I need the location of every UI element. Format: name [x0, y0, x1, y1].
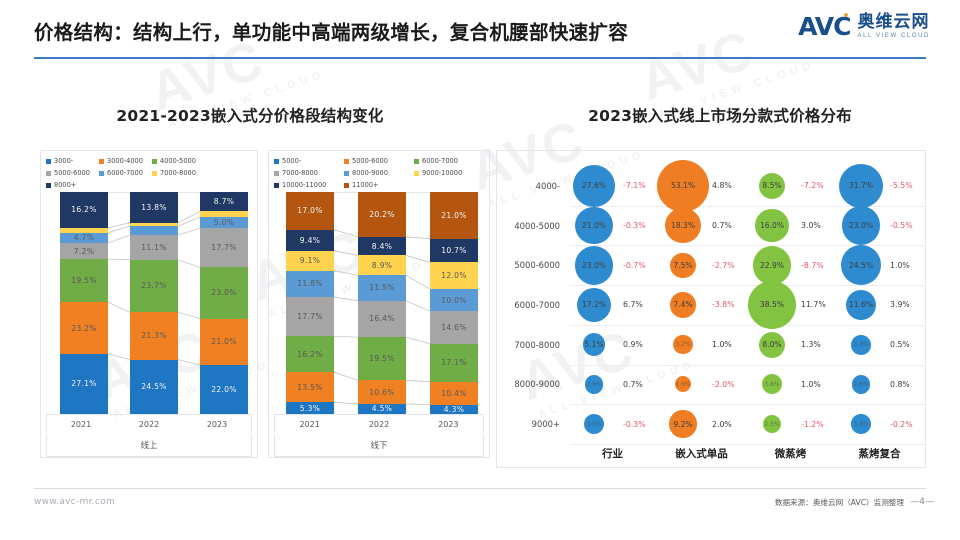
- stacked-bar-segment[interactable]: 27.1%: [60, 354, 108, 414]
- segment-value-label: 17.7%: [211, 243, 237, 252]
- bubble-chart-plot: 4000-27.6%-7.1%53.1%4.8%8.5%-7.2%31.7%-5…: [496, 166, 926, 444]
- segment-value-label: 27.1%: [71, 379, 97, 388]
- bubble-value-label: 11.6%: [849, 300, 873, 309]
- stacked-bar[interactable]: 8.7%5.0%17.7%23.0%21.0%22.0%: [200, 192, 248, 414]
- grid-line: [570, 444, 926, 445]
- bubble-delta-label: 1.0%: [712, 340, 732, 349]
- bubble-marker[interactable]: 3.3%: [851, 335, 871, 355]
- bubble-delta-label: -0.3%: [623, 420, 646, 429]
- bubble-marker[interactable]: 27.6%: [573, 165, 615, 207]
- bubble-cell: 16.0%3.0%: [746, 209, 835, 243]
- page-number: —4—: [910, 497, 934, 507]
- stacked-bar-segment[interactable]: 17.0%: [286, 192, 334, 230]
- bubble-delta-label: 1.3%: [801, 340, 821, 349]
- bubble-row: 7000-80005.1%0.9%3.2%1.0%8.0%1.3%3.3%0.5…: [496, 325, 926, 365]
- bubble-marker[interactable]: 3.6%: [762, 374, 782, 394]
- bubble-wrap: 3.3%: [835, 414, 887, 434]
- bubble-cell: 5.1%0.9%: [568, 333, 657, 355]
- bubble-value-label: 5.1%: [584, 340, 603, 349]
- bubble-value-label: 8.5%: [762, 181, 781, 190]
- bubble-value-label: 2.6%: [853, 381, 868, 388]
- bubble-wrap: 16.0%: [746, 209, 798, 243]
- legend-label: 3000-4000: [107, 157, 143, 165]
- segment-value-label: 22.0%: [211, 385, 237, 394]
- stacked-bar-segment[interactable]: 10.4%: [430, 382, 478, 405]
- bubble-wrap: 21.0%: [568, 207, 620, 244]
- x-axis-tick: 2023: [183, 415, 251, 433]
- segment-value-label: 12.0%: [441, 271, 467, 280]
- bubble-wrap: 8.5%: [746, 173, 798, 200]
- bubble-delta-label: 6.7%: [623, 300, 643, 309]
- bubble-row-label: 8000-9000: [496, 379, 568, 389]
- segment-value-label: 21.0%: [211, 337, 237, 346]
- bubble-column-label: 微蒸烤: [746, 446, 835, 461]
- stacked-bar-segment[interactable]: 7.2%: [60, 243, 108, 259]
- legend-label: 11000+: [352, 181, 379, 189]
- stacked-bar-segment[interactable]: 10.0%: [430, 289, 478, 311]
- bubble-wrap: 7.4%: [657, 292, 709, 317]
- bubble-marker[interactable]: 5.1%: [583, 333, 605, 355]
- x-axis-tick: 2021: [275, 415, 344, 433]
- stacked-bar-segment[interactable]: 24.5%: [130, 360, 178, 414]
- stacked-bar-segment[interactable]: 11.5%: [358, 275, 406, 301]
- segment-value-label: 23.0%: [211, 288, 237, 297]
- bubble-cell: 7.5%-2.7%: [657, 253, 746, 279]
- bubble-delta-label: -8.7%: [801, 261, 824, 270]
- bubble-marker[interactable]: 18.3%: [665, 208, 700, 243]
- bubble-value-label: 3.5%: [586, 421, 601, 428]
- legend-item[interactable]: 6000-7000: [414, 157, 484, 165]
- legend-swatch-icon: [414, 171, 419, 176]
- stacked-bar-segment[interactable]: 9.1%: [286, 251, 334, 271]
- legend-item[interactable]: 4000-5000: [152, 157, 205, 165]
- stacked-bar-segment[interactable]: 9.4%: [286, 230, 334, 251]
- legend-label: 8000-9000: [352, 169, 388, 177]
- segment-value-label: 19.5%: [369, 354, 395, 363]
- segment-value-label: 17.0%: [297, 206, 323, 215]
- stacked-bar-segment[interactable]: 8.4%: [358, 237, 406, 256]
- stacked-bar-segment[interactable]: 21.0%: [430, 192, 478, 239]
- legend-item[interactable]: 7000-8000: [152, 169, 205, 177]
- legend-label: 9000-10000: [422, 169, 462, 177]
- legend-item[interactable]: 6000-7000: [99, 169, 152, 177]
- bubble-delta-label: 0.8%: [890, 380, 910, 389]
- segment-value-label: 16.2%: [71, 205, 97, 214]
- stacked-bar-segment[interactable]: 19.5%: [358, 337, 406, 380]
- legend-item[interactable]: 8000+: [46, 181, 99, 189]
- bubble-wrap: 27.6%: [568, 165, 620, 207]
- bubble-cell: 3.2%1.0%: [657, 335, 746, 354]
- bubble-column-label: 行业: [568, 446, 657, 461]
- stacked-bar-segment[interactable]: 14.6%: [430, 311, 478, 343]
- bubble-delta-label: 2.0%: [712, 420, 732, 429]
- bubble-marker[interactable]: 2.5%: [763, 415, 781, 433]
- bubble-value-label: 3.3%: [853, 421, 868, 428]
- bubble-wrap: 31.7%: [835, 164, 887, 208]
- slide-root: AVCALL VIEW CLOUD AVCALL VIEW CLOUD AVCA…: [0, 0, 960, 540]
- segment-value-label: 11.5%: [369, 283, 395, 292]
- bubble-cell: 23.0%-0.7%: [568, 246, 657, 285]
- bubble-row: 9000+3.5%-0.3%9.2%2.0%2.5%-1.2%3.3%-0.2%: [496, 404, 926, 444]
- bubble-marker[interactable]: 17.2%: [577, 288, 612, 323]
- bubble-cell: 7.4%-3.8%: [657, 292, 746, 317]
- bubble-delta-label: -1.2%: [801, 420, 824, 429]
- bubble-wrap: 1.6%: [657, 376, 709, 392]
- bubble-marker[interactable]: 23.0%: [575, 246, 614, 285]
- bubble-delta-label: -3.8%: [712, 300, 735, 309]
- legend-label: 6000-7000: [107, 169, 143, 177]
- footer-url[interactable]: www.avc-mr.com: [34, 497, 115, 507]
- bubble-delta-label: 3.9%: [890, 300, 910, 309]
- bubble-value-label: 21.0%: [582, 221, 606, 230]
- segment-value-label: 4.5%: [372, 404, 393, 413]
- stacked-bar-segment[interactable]: 17.1%: [430, 344, 478, 382]
- bubble-cell: 2.6%0.8%: [835, 375, 924, 393]
- right-chart-title: 2023嵌入式线上市场分款式价格分布: [490, 104, 950, 126]
- avc-logo: AVC 奥维云网 ALL VIEW CLOUD: [798, 12, 930, 41]
- stacked-bar-segment[interactable]: 17.7%: [286, 297, 334, 336]
- bubble-cell: 1.6%-2.0%: [657, 376, 746, 392]
- bubble-value-label: 1.6%: [675, 381, 690, 388]
- bubble-cell: 17.2%6.7%: [568, 288, 657, 323]
- stacked-bar[interactable]: 16.2%4.7%7.2%19.5%23.2%27.1%: [60, 192, 108, 414]
- bubble-cell: 22.9%-8.7%: [746, 246, 835, 285]
- offline-chart-legend: 5000-5000-60006000-70007000-80008000-900…: [274, 157, 486, 193]
- bubble-column-label: 蒸烤复合: [835, 446, 924, 461]
- stacked-bar-segment[interactable]: 17.7%: [200, 228, 248, 267]
- segment-value-label: 10.4%: [441, 389, 467, 398]
- segment-value-label: 8.9%: [372, 261, 393, 270]
- bubble-value-label: 38.5%: [760, 300, 784, 309]
- bubble-marker[interactable]: 23.0%: [842, 206, 881, 245]
- bubble-wrap: 11.6%: [835, 290, 887, 320]
- bubble-cell: 11.6%3.9%: [835, 290, 924, 320]
- legend-label: 4000-5000: [160, 157, 196, 165]
- legend-swatch-icon: [344, 159, 349, 164]
- bubble-cell: 31.7%-5.5%: [835, 164, 924, 208]
- legend-swatch-icon: [414, 159, 419, 164]
- legend-swatch-icon: [46, 159, 51, 164]
- segment-value-label: 7.2%: [74, 247, 95, 256]
- bubble-cell: 9.2%2.0%: [657, 410, 746, 437]
- bubble-value-label: 22.9%: [760, 261, 784, 270]
- stacked-bar-segment[interactable]: 10.7%: [430, 239, 478, 263]
- bubble-marker[interactable]: 11.6%: [846, 290, 876, 320]
- bubble-marker[interactable]: 16.0%: [755, 209, 789, 243]
- stacked-bar[interactable]: 13.8%11.1%23.7%21.3%24.5%: [130, 192, 178, 414]
- segment-value-label: 8.4%: [372, 242, 393, 251]
- bubble-wrap: 2.6%: [835, 375, 887, 393]
- x-axis-tick: 2021: [47, 415, 115, 433]
- legend-swatch-icon: [274, 171, 279, 176]
- bubble-delta-label: -7.1%: [623, 181, 646, 190]
- bubble-marker[interactable]: 24.5%: [841, 245, 881, 285]
- bubble-wrap: 2.6%: [568, 375, 620, 393]
- legend-label: 7000-8000: [160, 169, 196, 177]
- bubble-row: 6000-700017.2%6.7%7.4%-3.8%38.5%11.7%11.…: [496, 285, 926, 325]
- stacked-bar-segment[interactable]: 16.4%: [358, 301, 406, 337]
- bubble-marker[interactable]: 8.5%: [759, 173, 786, 200]
- bubble-marker[interactable]: 3.2%: [673, 335, 692, 354]
- segment-value-label: 13.5%: [297, 383, 323, 392]
- bubble-wrap: 7.5%: [657, 253, 709, 279]
- x-axis-tick: 2023: [414, 415, 483, 433]
- stacked-bar-segment[interactable]: 23.0%: [200, 267, 248, 318]
- bubble-delta-label: 11.7%: [801, 300, 826, 309]
- segment-value-label: 13.8%: [141, 203, 167, 212]
- bubble-cell: 18.3%0.7%: [657, 208, 746, 243]
- legend-label: 5000-6000: [54, 169, 90, 177]
- bubble-marker[interactable]: 2.6%: [585, 375, 603, 393]
- bubble-value-label: 7.4%: [673, 300, 692, 309]
- stacked-bar-segment[interactable]: 16.2%: [60, 192, 108, 228]
- legend-item[interactable]: 10000-11000: [274, 181, 344, 189]
- legend-label: 10000-11000: [282, 181, 326, 189]
- stacked-bar-segment[interactable]: 23.7%: [130, 260, 178, 313]
- bubble-marker[interactable]: 21.0%: [575, 207, 612, 244]
- bubble-delta-label: -0.3%: [623, 221, 646, 230]
- legend-label: 5000-: [282, 157, 301, 165]
- legend-item[interactable]: 7000-8000: [274, 169, 344, 177]
- bubble-value-label: 3.6%: [764, 381, 779, 388]
- segment-value-label: 20.2%: [369, 210, 395, 219]
- bubble-delta-label: 1.0%: [890, 261, 910, 270]
- segment-value-label: 4.3%: [444, 405, 465, 414]
- bubble-delta-label: 3.0%: [801, 221, 821, 230]
- x-axis-tick: 2022: [344, 415, 413, 433]
- stacked-bar-segment[interactable]: 4.5%: [358, 404, 406, 414]
- segment-value-label: 14.6%: [441, 323, 467, 332]
- bubble-cell: 3.6%1.0%: [746, 374, 835, 394]
- bubble-marker[interactable]: 7.4%: [670, 292, 695, 317]
- stacked-bar-segment[interactable]: 5.3%: [286, 402, 334, 414]
- segment-value-label: 10.0%: [441, 296, 467, 305]
- left-chart-title: 2021-2023嵌入式分价格段结构变化: [0, 104, 500, 126]
- stacked-bar-segment[interactable]: 5.0%: [200, 217, 248, 228]
- legend-swatch-icon: [274, 159, 279, 164]
- segment-value-label: 19.5%: [71, 276, 97, 285]
- bubble-row: 4000-27.6%-7.1%53.1%4.8%8.5%-7.2%31.7%-5…: [496, 166, 926, 206]
- stacked-bar-segment[interactable]: 23.2%: [60, 302, 108, 354]
- stacked-bar[interactable]: 20.2%8.4%8.9%11.5%16.4%19.5%10.6%4.5%: [358, 192, 406, 414]
- bubble-row: 5000-600023.0%-0.7%7.5%-2.7%22.9%-8.7%24…: [496, 245, 926, 285]
- bubble-delta-label: 0.9%: [623, 340, 643, 349]
- legend-label: 7000-8000: [282, 169, 318, 177]
- slide-header: 价格结构：结构上行，单功能中高端两级增长，复合机腰部快速扩容 AVC 奥维云网 …: [0, 0, 960, 62]
- stacked-bar-segment[interactable]: 11.1%: [130, 235, 178, 260]
- stacked-bar-segment[interactable]: 10.6%: [358, 380, 406, 404]
- stacked-bar-segment[interactable]: 8.7%: [200, 192, 248, 211]
- stacked-bar-segment[interactable]: 13.5%: [286, 372, 334, 402]
- segment-value-label: 10.6%: [369, 388, 395, 397]
- stacked-bar-segment[interactable]: 22.0%: [200, 365, 248, 414]
- segment-value-label: 11.1%: [141, 243, 167, 252]
- bubble-delta-label: -5.5%: [890, 181, 913, 190]
- bubble-cell: 2.5%-1.2%: [746, 415, 835, 433]
- bubble-marker[interactable]: 3.5%: [584, 414, 604, 434]
- bubble-column-label: 嵌入式单品: [657, 446, 746, 461]
- stacked-bar-segment[interactable]: 4.3%: [430, 405, 478, 415]
- bubble-delta-label: 4.8%: [712, 181, 732, 190]
- bubble-wrap: 3.3%: [835, 335, 887, 355]
- bubble-value-label: 23.0%: [582, 261, 606, 270]
- legend-swatch-icon: [274, 183, 279, 188]
- bubble-cell: 8.5%-7.2%: [746, 173, 835, 200]
- bubble-marker[interactable]: 53.1%: [657, 160, 709, 212]
- bubble-delta-label: -0.7%: [623, 261, 646, 270]
- bubble-value-label: 8.0%: [762, 340, 781, 349]
- bubble-value-label: 3.3%: [853, 341, 868, 348]
- stacked-bar[interactable]: 21.0%10.7%12.0%10.0%14.6%17.1%10.4%4.3%: [430, 192, 478, 414]
- stacked-bar-segment[interactable]: 12.0%: [430, 262, 478, 289]
- stacked-bar[interactable]: 17.0%9.4%9.1%11.8%17.7%16.2%13.5%5.3%: [286, 192, 334, 414]
- bubble-marker[interactable]: 2.6%: [852, 375, 870, 393]
- bubble-marker[interactable]: 22.9%: [753, 246, 792, 285]
- bubble-wrap: 3.5%: [568, 414, 620, 434]
- legend-item[interactable]: 11000+: [344, 181, 414, 189]
- header-divider: [34, 57, 926, 59]
- bubble-value-label: 18.3%: [671, 221, 695, 230]
- bubble-chart-x-axis: 行业嵌入式单品微蒸烤蒸烤复合: [496, 446, 926, 461]
- bubble-cell: 53.1%4.8%: [657, 160, 746, 212]
- legend-swatch-icon: [152, 159, 157, 164]
- online-x-axis-name: 线上: [46, 435, 252, 457]
- segment-value-label: 16.4%: [369, 314, 395, 323]
- bubble-row-label: 5000-6000: [496, 260, 568, 270]
- stacked-bar-segment[interactable]: 4.7%: [60, 233, 108, 243]
- bubble-row-label: 9000+: [496, 419, 568, 429]
- logo-en-text: ALL VIEW CLOUD: [857, 33, 930, 39]
- footer-divider: [34, 488, 926, 489]
- bubble-cell: 3.3%-0.2%: [835, 414, 924, 434]
- legend-item[interactable]: 5000-6000: [46, 169, 99, 177]
- segment-value-label: 5.0%: [214, 218, 235, 227]
- legend-item[interactable]: 5000-6000: [344, 157, 414, 165]
- bubble-cell: 21.0%-0.3%: [568, 207, 657, 244]
- x-axis-tick: 2022: [115, 415, 183, 433]
- stacked-bar-segment[interactable]: 19.5%: [60, 259, 108, 302]
- bubble-wrap: 2.5%: [746, 415, 798, 433]
- logo-cn-text: 奥维云网: [857, 12, 929, 32]
- bubble-delta-label: -2.7%: [712, 261, 735, 270]
- bubble-marker[interactable]: 38.5%: [748, 281, 796, 329]
- bubble-wrap: 18.3%: [657, 208, 709, 243]
- bubble-row-label: 7000-8000: [496, 340, 568, 350]
- stacked-bar-segment[interactable]: 13.8%: [130, 192, 178, 223]
- bubble-value-label: 2.6%: [586, 381, 601, 388]
- bubble-marker[interactable]: 31.7%: [839, 164, 883, 208]
- bubble-cell: 27.6%-7.1%: [568, 165, 657, 207]
- legend-item[interactable]: 8000-9000: [344, 169, 414, 177]
- bubble-wrap: 8.0%: [746, 332, 798, 358]
- stacked-bar-segment[interactable]: 11.8%: [286, 271, 334, 297]
- bubble-delta-label: -2.0%: [712, 380, 735, 389]
- bubble-value-label: 24.5%: [849, 261, 873, 270]
- segment-value-label: 21.3%: [141, 331, 167, 340]
- legend-swatch-icon: [46, 171, 51, 176]
- segment-value-label: 10.7%: [441, 246, 467, 255]
- legend-item[interactable]: 3000-: [46, 157, 99, 165]
- bubble-value-label: 9.2%: [673, 420, 692, 429]
- logo-avc-text: AVC: [798, 12, 850, 41]
- bubble-cell: 24.5%1.0%: [835, 245, 924, 285]
- legend-item[interactable]: 5000-: [274, 157, 344, 165]
- bubble-wrap: 17.2%: [568, 288, 620, 323]
- legend-item[interactable]: 9000-10000: [414, 169, 484, 177]
- segment-value-label: 5.3%: [300, 404, 321, 413]
- bubble-wrap: 24.5%: [835, 245, 887, 285]
- bubble-wrap: 22.9%: [746, 246, 798, 285]
- online-x-axis: 202120222023: [46, 414, 252, 433]
- legend-swatch-icon: [46, 183, 51, 188]
- legend-item[interactable]: 3000-4000: [99, 157, 152, 165]
- bubble-cell: 3.5%-0.3%: [568, 414, 657, 434]
- offline-x-axis: 202120222023: [274, 414, 484, 433]
- page-title: 价格结构：结构上行，单功能中高端两级增长，复合机腰部快速扩容: [34, 16, 628, 45]
- bubble-marker[interactable]: 8.0%: [759, 332, 785, 358]
- legend-swatch-icon: [344, 183, 349, 188]
- legend-swatch-icon: [99, 159, 104, 164]
- stacked-bar-segment[interactable]: 21.0%: [200, 319, 248, 366]
- offline-stacked-bars: 17.0%9.4%9.1%11.8%17.7%16.2%13.5%5.3%20.…: [274, 192, 484, 414]
- segment-value-label: 11.8%: [297, 279, 323, 288]
- bubble-wrap: 3.2%: [657, 335, 709, 354]
- bubble-marker[interactable]: 7.5%: [670, 253, 696, 279]
- bubble-value-label: 27.6%: [582, 181, 606, 190]
- bubble-cell: 38.5%11.7%: [746, 281, 835, 329]
- segment-value-label: 24.5%: [141, 382, 167, 391]
- stacked-bar-segment[interactable]: 20.2%: [358, 192, 406, 237]
- bubble-wrap: 5.1%: [568, 333, 620, 355]
- bubble-value-label: 17.2%: [582, 300, 606, 309]
- bubble-value-label: 2.5%: [764, 421, 779, 428]
- online-stacked-bars: 16.2%4.7%7.2%19.5%23.2%27.1%13.8%11.1%23…: [46, 192, 252, 414]
- online-chart-legend: 3000-3000-40004000-50005000-60006000-700…: [46, 157, 254, 193]
- bubble-delta-label: -0.5%: [890, 221, 913, 230]
- bubble-row: 8000-90002.6%0.7%1.6%-2.0%3.6%1.0%2.6%0.…: [496, 365, 926, 405]
- bubble-wrap: 9.2%: [657, 410, 709, 437]
- bubble-marker[interactable]: 9.2%: [669, 410, 696, 437]
- bubble-wrap: 38.5%: [746, 281, 798, 329]
- stacked-bar-segment[interactable]: 21.3%: [130, 312, 178, 359]
- segment-value-label: 16.2%: [297, 350, 323, 359]
- stacked-bar-segment[interactable]: 8.9%: [358, 255, 406, 275]
- legend-label: 6000-7000: [422, 157, 458, 165]
- bubble-row: 4000-500021.0%-0.3%18.3%0.7%16.0%3.0%23.…: [496, 206, 926, 246]
- bubble-wrap: 23.0%: [568, 246, 620, 285]
- legend-swatch-icon: [344, 171, 349, 176]
- bubble-row-label: 4000-: [496, 181, 568, 191]
- stacked-bar-segment[interactable]: [130, 226, 178, 235]
- bubble-cell: 2.6%0.7%: [568, 375, 657, 393]
- segment-value-label: 17.1%: [441, 358, 467, 367]
- stacked-bar-segment[interactable]: 16.2%: [286, 336, 334, 372]
- bubble-value-label: 7.5%: [673, 261, 692, 270]
- bubble-marker[interactable]: 1.6%: [675, 376, 691, 392]
- bubble-row-label: 4000-5000: [496, 221, 568, 231]
- bubble-cell: 8.0%1.3%: [746, 332, 835, 358]
- bubble-wrap: 53.1%: [657, 160, 709, 212]
- bubble-value-label: 16.0%: [760, 221, 784, 230]
- bubble-value-label: 3.2%: [675, 341, 690, 348]
- bubble-delta-label: 0.7%: [712, 221, 732, 230]
- bubble-marker[interactable]: 3.3%: [851, 414, 871, 434]
- segment-value-label: 9.4%: [300, 236, 321, 245]
- segment-value-label: 8.7%: [214, 197, 235, 206]
- legend-swatch-icon: [152, 171, 157, 176]
- bubble-delta-label: 0.5%: [890, 340, 910, 349]
- bubble-delta-label: 1.0%: [801, 380, 821, 389]
